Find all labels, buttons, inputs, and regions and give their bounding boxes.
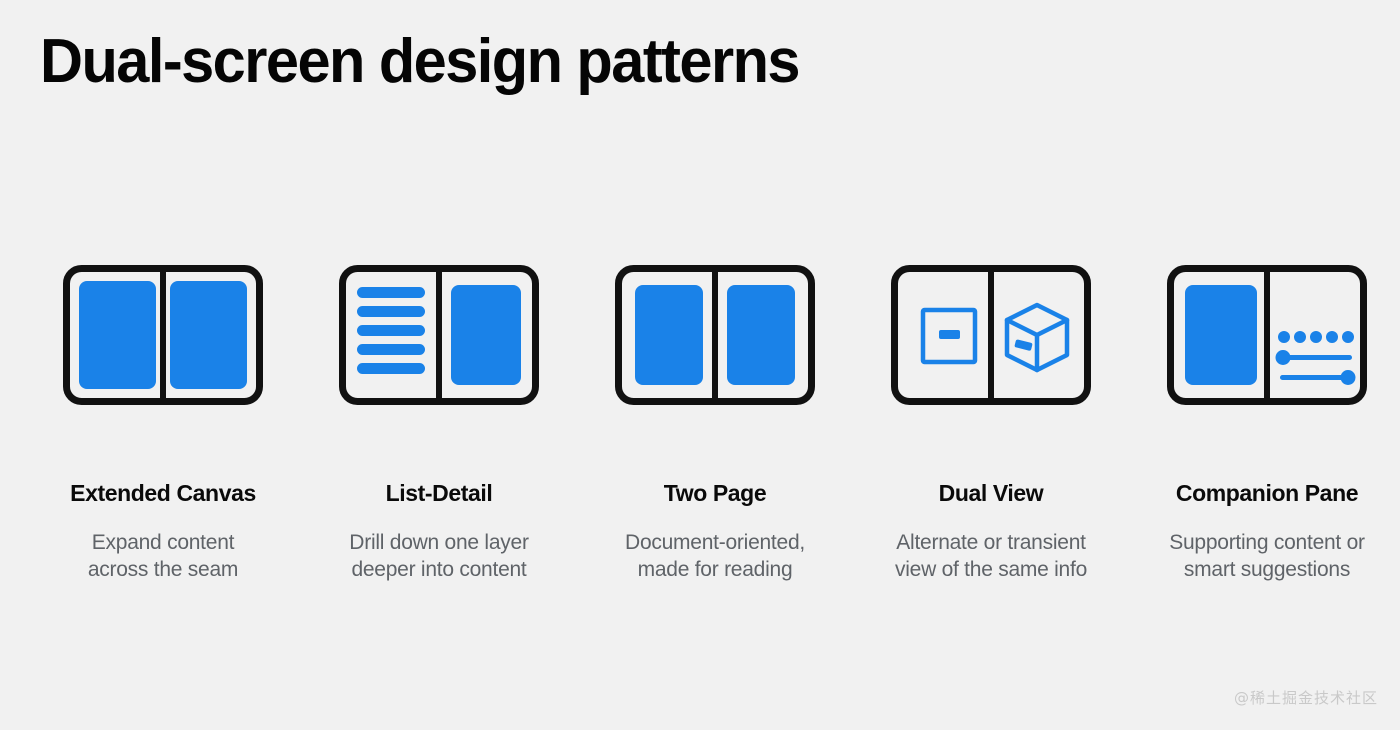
pattern-card-dual-view[interactable]: Dual View Alternate or transient view of… [862, 262, 1120, 584]
slider-two [1280, 370, 1356, 385]
pattern-title: List-Detail [386, 480, 493, 507]
page-title: Dual-screen design patterns [40, 27, 799, 96]
pattern-description-line-2: made for reading [625, 556, 805, 583]
slide-root: Dual-screen design patterns Extended Can… [0, 0, 1400, 730]
pattern-description-line-2: view of the same info [895, 556, 1087, 583]
pattern-description-line-1: Expand content [88, 529, 238, 556]
pattern-description-line-2: deeper into content [349, 556, 528, 583]
list-rows [357, 287, 425, 374]
pattern-description-line-2: across the seam [88, 556, 238, 583]
pattern-description: Expand content across the seam [88, 529, 238, 584]
pattern-description: Supporting content or smart suggestions [1169, 529, 1365, 584]
pattern-card-row: Extended Canvas Expand content across th… [0, 262, 1400, 584]
pattern-description-line-1: Supporting content or [1169, 529, 1365, 556]
cube-glyph [1007, 305, 1067, 370]
pattern-card-two-page[interactable]: Two Page Document-oriented, made for rea… [586, 262, 844, 584]
pattern-description-line-2: smart suggestions [1169, 556, 1365, 583]
pattern-title: Extended Canvas [70, 480, 256, 507]
pattern-description-line-1: Drill down one layer [349, 529, 528, 556]
extended-canvas-icon [63, 262, 263, 408]
slider-one [1276, 350, 1353, 365]
pattern-card-companion-pane[interactable]: Companion Pane Supporting content or sma… [1138, 262, 1396, 584]
pattern-description: Document-oriented, made for reading [625, 529, 805, 584]
watermark: @稀土掘金技术社区 [1234, 687, 1378, 708]
dual-view-icon [891, 262, 1091, 408]
pattern-title: Companion Pane [1176, 480, 1358, 507]
two-page-icon [615, 262, 815, 408]
pattern-card-extended-canvas[interactable]: Extended Canvas Expand content across th… [34, 262, 292, 584]
pattern-description: Drill down one layer deeper into content [349, 529, 528, 584]
pattern-title: Dual View [939, 480, 1044, 507]
dot-row [1278, 331, 1354, 343]
pattern-title: Two Page [664, 480, 766, 507]
companion-pane-icon [1167, 262, 1367, 408]
pattern-description-line-1: Document-oriented, [625, 529, 805, 556]
pattern-description-line-1: Alternate or transient [895, 529, 1087, 556]
pattern-card-list-detail[interactable]: List-Detail Drill down one layer deeper … [310, 262, 568, 584]
list-detail-icon [339, 262, 539, 408]
pattern-description: Alternate or transient view of the same … [895, 529, 1087, 584]
flat-view-glyph [923, 310, 975, 362]
